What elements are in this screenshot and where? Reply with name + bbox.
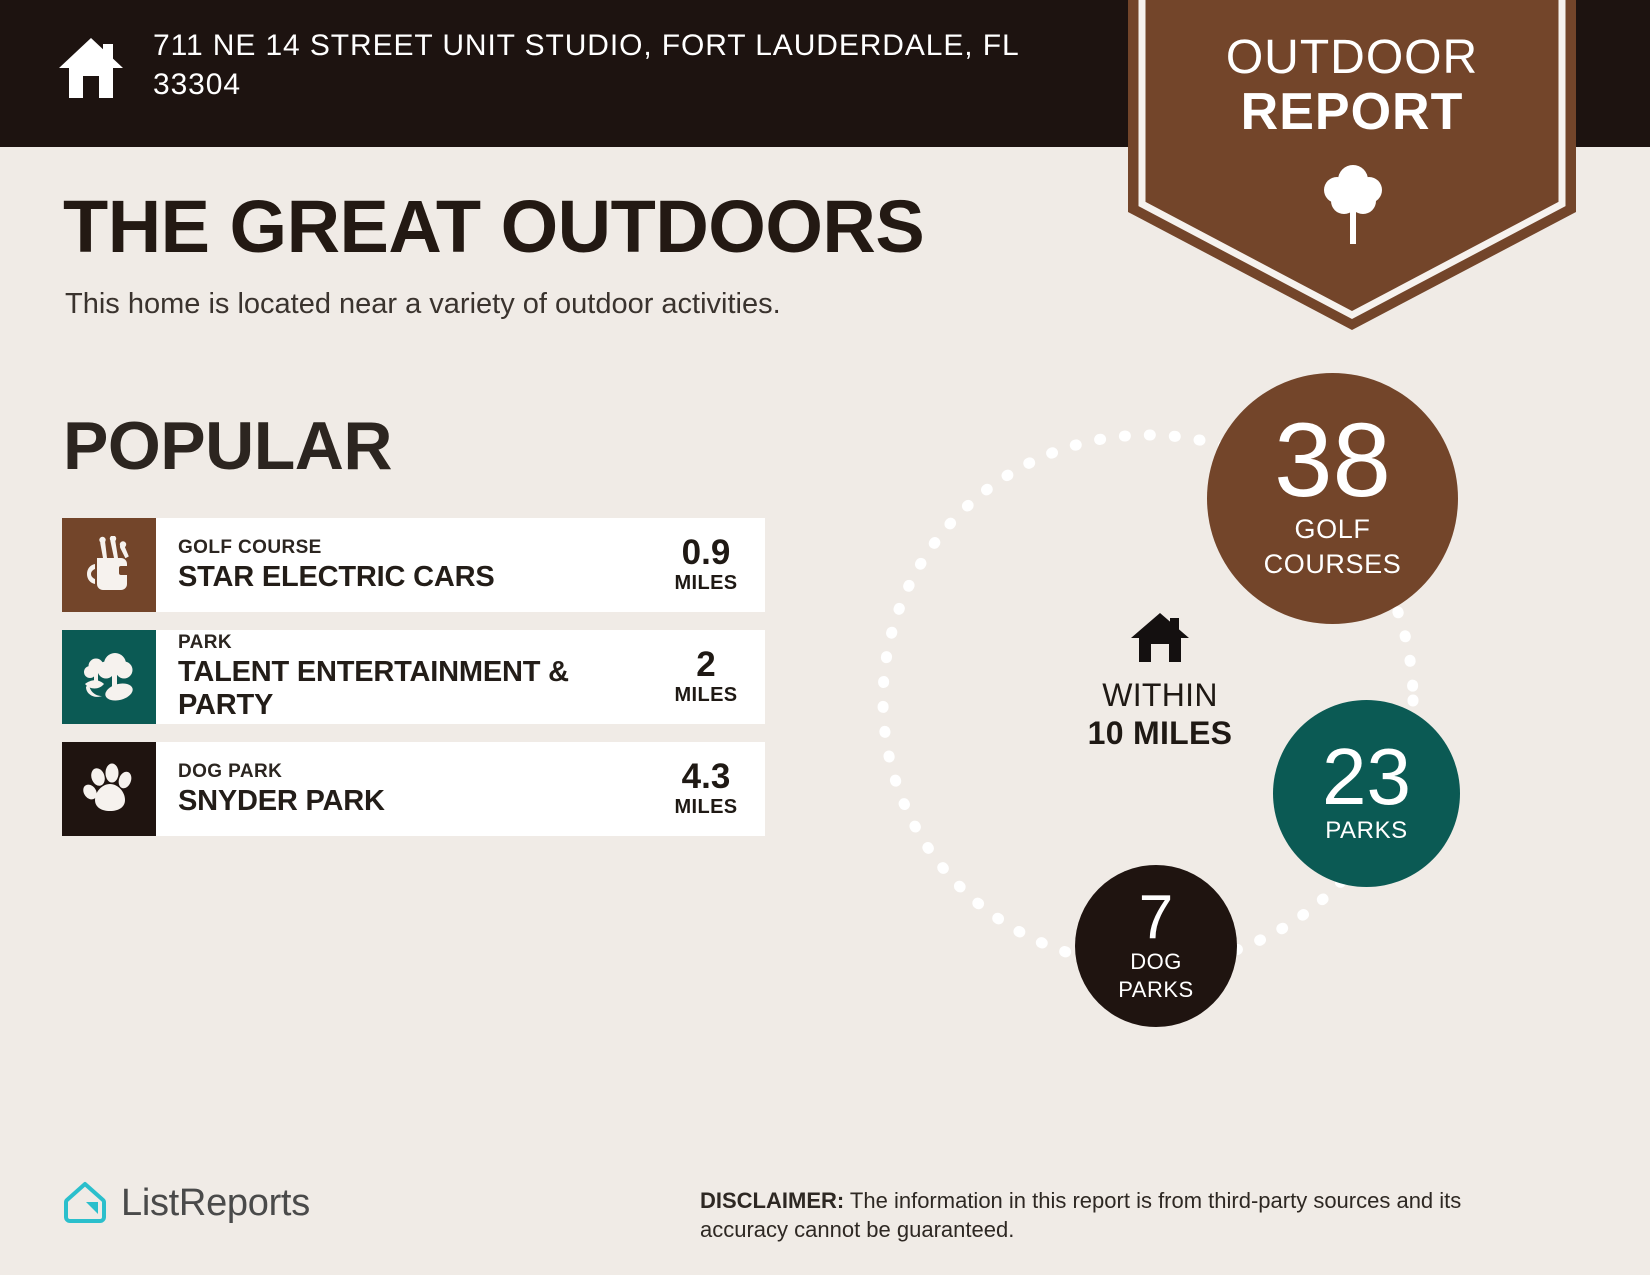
list-item-body: GOLF COURSE STAR ELECTRIC CARS 0.9 MILES xyxy=(156,518,765,612)
list-item-distance-unit: MILES xyxy=(665,684,747,707)
list-item-category: DOG PARK xyxy=(178,760,385,784)
stat-bubble-parks: 23 PARKS xyxy=(1273,700,1460,887)
golf-bag-icon xyxy=(83,536,135,594)
stat-bubble-dog-parks: 7 DOG PARKS xyxy=(1075,865,1237,1027)
badge-text: OUTDOOR REPORT xyxy=(1128,34,1576,138)
list-item-text: GOLF COURSE STAR ELECTRIC CARS xyxy=(178,536,494,594)
listreports-logo-text: ListReports xyxy=(121,1182,310,1225)
listreports-house-logo-icon xyxy=(62,1180,108,1226)
list-item-category: GOLF COURSE xyxy=(178,536,494,560)
list-item-icon-tile xyxy=(62,630,156,724)
house-icon xyxy=(55,32,127,104)
center-stat: WITHIN 10 MILES xyxy=(1050,610,1270,753)
list-item-body: DOG PARK SNYDER PARK 4.3 MILES xyxy=(156,742,765,836)
list-item-text: PARK TALENT ENTERTAINMENT & PARTY xyxy=(178,631,665,722)
stat-value: 38 xyxy=(1274,413,1391,510)
outdoor-report-badge: OUTDOOR REPORT xyxy=(1128,0,1576,330)
property-address: 711 NE 14 STREET UNIT STUDIO, FORT LAUDE… xyxy=(153,26,1053,104)
stat-label-line-2: COURSES xyxy=(1264,550,1402,578)
list-item-icon-tile xyxy=(62,742,156,836)
stat-value: 23 xyxy=(1322,740,1411,814)
stat-label-line-2: PARKS xyxy=(1118,978,1193,1001)
center-stat-line-2: 10 MILES xyxy=(1050,714,1270,752)
list-item-distance-value: 0.9 xyxy=(665,535,747,572)
list-item-name: TALENT ENTERTAINMENT & PARTY xyxy=(178,656,665,723)
paw-print-icon xyxy=(82,762,136,816)
list-item-text: DOG PARK SNYDER PARK xyxy=(178,760,385,818)
list-item-distance-unit: MILES xyxy=(665,572,747,595)
center-stat-line-1: WITHIN xyxy=(1050,676,1270,714)
list-item-distance: 2 MILES xyxy=(665,647,747,707)
popular-heading: POPULAR xyxy=(63,412,392,480)
list-item-category: PARK xyxy=(178,631,665,655)
list-item[interactable]: PARK TALENT ENTERTAINMENT & PARTY 2 MILE… xyxy=(62,630,765,724)
list-item[interactable]: GOLF COURSE STAR ELECTRIC CARS 0.9 MILES xyxy=(62,518,765,612)
list-item-body: PARK TALENT ENTERTAINMENT & PARTY 2 MILE… xyxy=(156,630,765,724)
list-item-distance-value: 2 xyxy=(665,647,747,684)
disclaimer-label: DISCLAIMER: xyxy=(700,1188,844,1213)
stat-value: 7 xyxy=(1139,889,1173,946)
list-item-name: STAR ELECTRIC CARS xyxy=(178,561,494,594)
badge-line-2: REPORT xyxy=(1128,86,1576,138)
page-subtitle: This home is located near a variety of o… xyxy=(65,288,781,321)
outdoor-report-infographic: 711 NE 14 STREET UNIT STUDIO, FORT LAUDE… xyxy=(0,0,1650,1275)
house-icon xyxy=(1129,610,1191,665)
stat-label-line-1: DOG xyxy=(1130,950,1182,973)
list-item-distance-unit: MILES xyxy=(665,796,747,819)
popular-list: GOLF COURSE STAR ELECTRIC CARS 0.9 MILES xyxy=(62,518,765,854)
within-10-miles-diagram: WITHIN 10 MILES 38 GOLF COURSES 23 PARKS… xyxy=(860,360,1500,1040)
disclaimer: DISCLAIMER: The information in this repo… xyxy=(700,1186,1520,1245)
stat-bubble-golf-courses: 38 GOLF COURSES xyxy=(1207,373,1458,624)
list-item-distance: 0.9 MILES xyxy=(665,535,747,595)
tree-icon xyxy=(1320,160,1386,246)
header-content: 711 NE 14 STREET UNIT STUDIO, FORT LAUDE… xyxy=(55,26,1053,104)
park-tree-icon xyxy=(81,650,137,704)
list-item-icon-tile xyxy=(62,518,156,612)
list-item-name: SNYDER PARK xyxy=(178,785,385,818)
list-item[interactable]: DOG PARK SNYDER PARK 4.3 MILES xyxy=(62,742,765,836)
stat-label-line-1: GOLF xyxy=(1295,515,1371,543)
badge-line-1: OUTDOOR xyxy=(1128,34,1576,82)
list-item-distance: 4.3 MILES xyxy=(665,759,747,819)
page-title: THE GREAT OUTDOORS xyxy=(63,190,924,264)
stat-label-line-1: PARKS xyxy=(1325,818,1408,843)
list-item-distance-value: 4.3 xyxy=(665,759,747,796)
listreports-logo[interactable]: ListReports xyxy=(62,1180,310,1226)
